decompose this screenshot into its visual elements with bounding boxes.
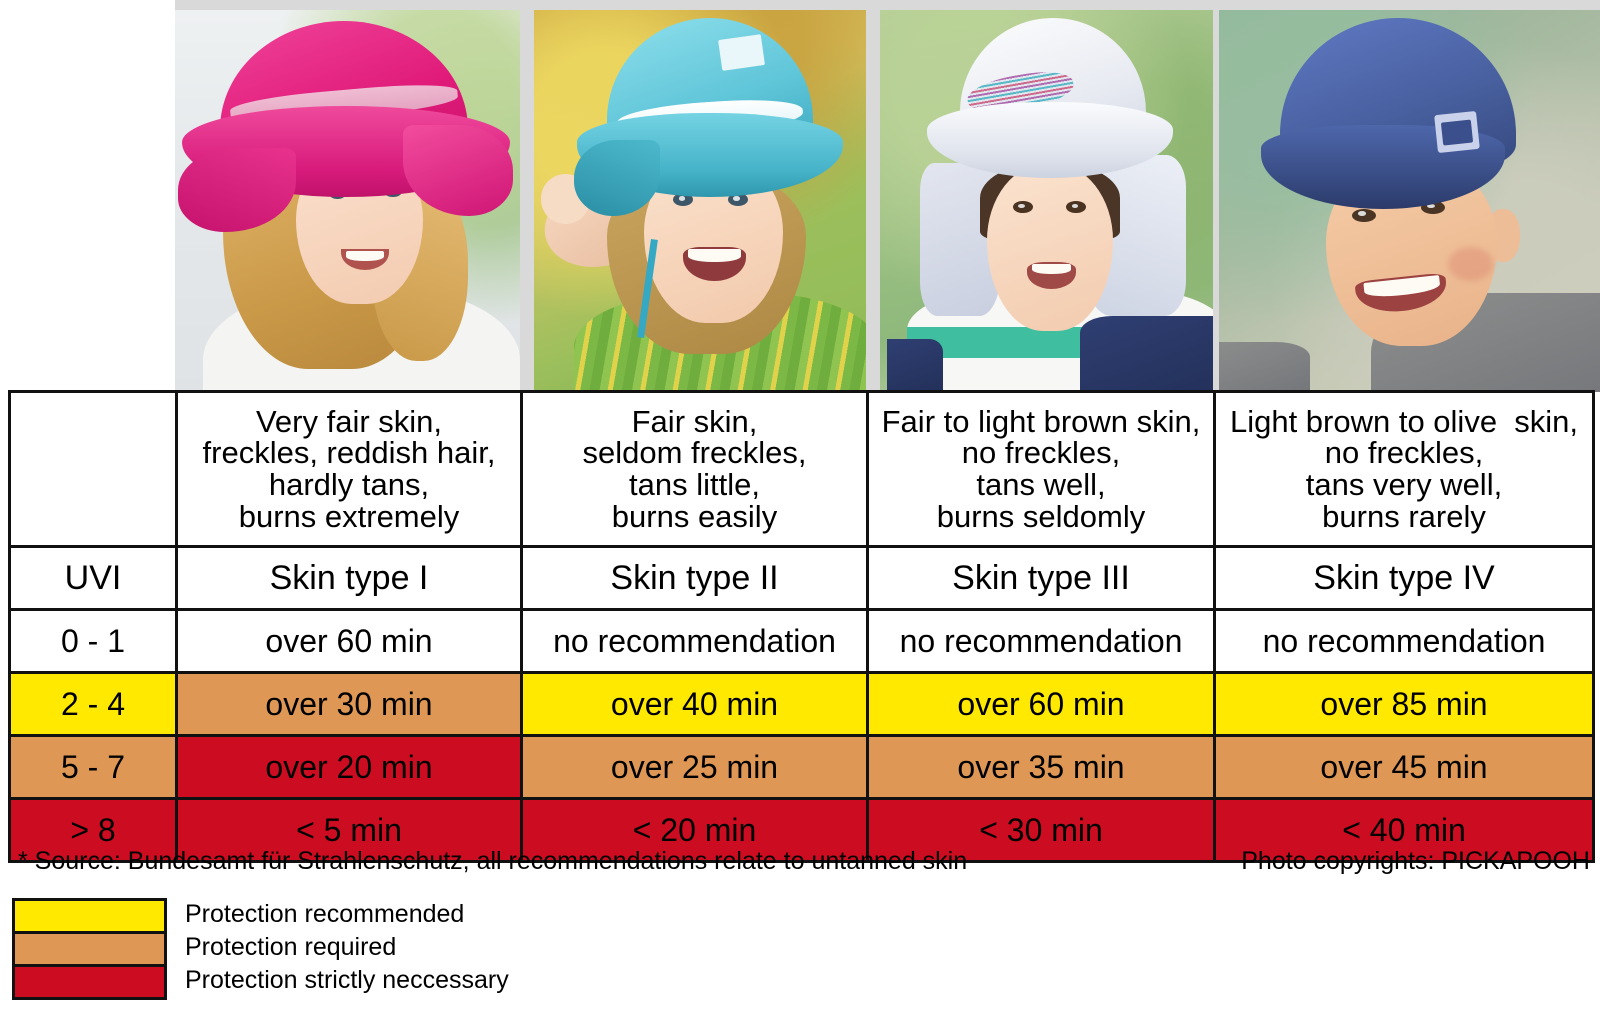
cell-uvi-0-1-type-2: no recommendation [522, 610, 868, 673]
header-skin-type-2: Skin type II [522, 547, 868, 610]
legend-label-required: Protection required [185, 931, 509, 964]
legend-label-necessary: Protection strictly neccessary [185, 964, 509, 997]
photo-skin-type-3 [866, 0, 1213, 392]
skin-description-2-text: Fair skin, seldom freckles, tans little,… [523, 406, 866, 532]
skin-description-4-text: Light brown to olive skin, no freckles, … [1216, 406, 1592, 532]
photo-strip [0, 0, 1600, 392]
cell-uvi-5-7-type-3: over 35 min [868, 736, 1215, 799]
photo-skin-type-2 [520, 0, 866, 392]
table-row-uvi-5-7: 5 - 7 over 20 min over 25 min over 35 mi… [10, 736, 1594, 799]
uv-protection-table-wrap: Very fair skin, freckles, reddish hair, … [8, 390, 1592, 863]
uv-protection-table: Very fair skin, freckles, reddish hair, … [8, 390, 1595, 863]
cell-uvi-5-7-type-2: over 25 min [522, 736, 868, 799]
skin-description-3: Fair to light brown skin, no freckles, t… [868, 392, 1215, 547]
cell-uvi-5-7-type-4: over 45 min [1215, 736, 1594, 799]
legend-label-recommended: Protection recommended [185, 898, 509, 931]
legend: Protection recommended Protection requir… [12, 898, 509, 1000]
table-row-header: UVI Skin type I Skin type II Skin type I… [10, 547, 1594, 610]
uvi-range-5-7: 5 - 7 [10, 736, 177, 799]
legend-swatch-yellow [15, 901, 164, 931]
skin-description-3-text: Fair to light brown skin, no freckles, t… [869, 406, 1213, 532]
photo-skin-type-4 [1213, 0, 1600, 392]
photo-skin-type-1 [175, 0, 520, 392]
legend-swatch-red [15, 964, 164, 997]
photo-copyright: Photo copyrights: PICKAPOOH [1241, 847, 1592, 876]
cell-uvi-0-1-type-1: over 60 min [177, 610, 522, 673]
description-row-corner-cell [10, 392, 177, 547]
skin-description-2: Fair skin, seldom freckles, tans little,… [522, 392, 868, 547]
legend-labels: Protection recommended Protection requir… [185, 898, 509, 997]
legend-swatches [12, 898, 167, 1000]
skin-description-1: Very fair skin, freckles, reddish hair, … [177, 392, 522, 547]
skin-description-4: Light brown to olive skin, no freckles, … [1215, 392, 1594, 547]
header-skin-type-1: Skin type I [177, 547, 522, 610]
table-row-uvi-2-4: 2 - 4 over 30 min over 40 min over 60 mi… [10, 673, 1594, 736]
cell-uvi-2-4-type-3: over 60 min [868, 673, 1215, 736]
photo-strip-left-spacer [0, 0, 175, 392]
header-uvi-label: UVI [10, 547, 177, 610]
table-row-uvi-0-1: 0 - 1 over 60 min no recommendation no r… [10, 610, 1594, 673]
table-row-descriptions: Very fair skin, freckles, reddish hair, … [10, 392, 1594, 547]
cell-uvi-2-4-type-2: over 40 min [522, 673, 868, 736]
uvi-range-2-4: 2 - 4 [10, 673, 177, 736]
uvi-range-0-1: 0 - 1 [10, 610, 177, 673]
footnote-row: * Source: Bundesamt für Strahlenschutz, … [8, 847, 1592, 876]
cell-uvi-0-1-type-3: no recommendation [868, 610, 1215, 673]
header-skin-type-3: Skin type III [868, 547, 1215, 610]
cell-uvi-2-4-type-4: over 85 min [1215, 673, 1594, 736]
source-footnote: * Source: Bundesamt für Strahlenschutz, … [8, 847, 967, 876]
cell-uvi-0-1-type-4: no recommendation [1215, 610, 1594, 673]
cell-uvi-2-4-type-1: over 30 min [177, 673, 522, 736]
legend-swatch-orange [15, 931, 164, 964]
header-skin-type-4: Skin type IV [1215, 547, 1594, 610]
cell-uvi-5-7-type-1: over 20 min [177, 736, 522, 799]
skin-description-1-text: Very fair skin, freckles, reddish hair, … [178, 406, 520, 532]
infographic-root: Very fair skin, freckles, reddish hair, … [0, 0, 1600, 1030]
